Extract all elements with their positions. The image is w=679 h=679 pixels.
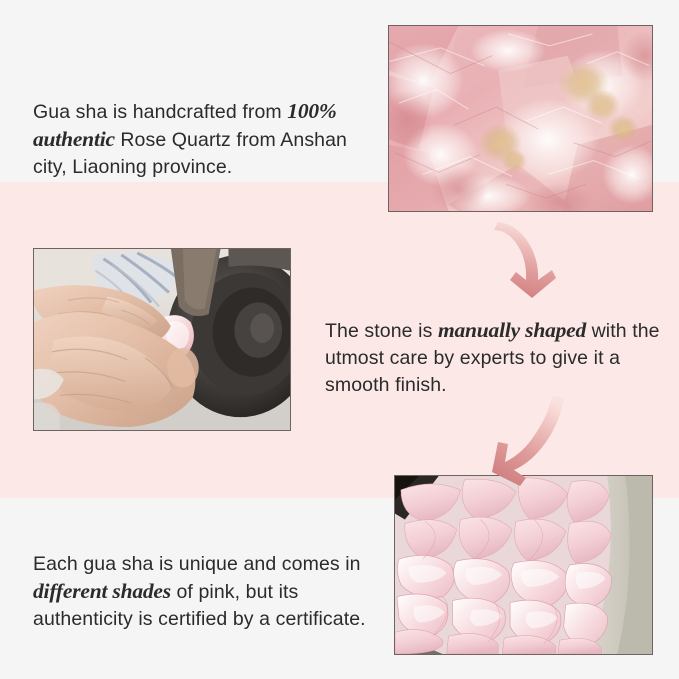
caption-step-1: Gua sha is handcrafted from 100% authent… xyxy=(33,98,383,181)
photo-stone-shaping-process xyxy=(33,248,291,431)
photo-finished-gua-sha-pile xyxy=(394,475,653,655)
caption-text-before: The stone is xyxy=(325,320,438,342)
arrow-glyph xyxy=(472,218,576,310)
caption-text-before: Each gua sha is unique and comes in xyxy=(33,553,361,575)
hands-grinding-wheel-illustration xyxy=(34,249,290,430)
photo-rose-quartz-texture xyxy=(388,25,653,212)
gua-sha-infographic: Gua sha is handcrafted from 100% authent… xyxy=(0,0,679,679)
rose-quartz-illustration xyxy=(389,26,652,211)
caption-step-3: Each gua sha is unique and comes in diff… xyxy=(33,551,388,633)
caption-text-before: Gua sha is handcrafted from xyxy=(33,101,287,123)
curved-down-arrow-2 xyxy=(478,396,582,488)
caption-emphasis: manually shaped xyxy=(438,318,586,342)
gua-sha-pile-illustration xyxy=(395,476,652,654)
caption-emphasis: different shades xyxy=(33,579,171,603)
caption-step-2: The stone is manually shaped with the ut… xyxy=(325,317,665,399)
arrow-glyph xyxy=(478,396,582,488)
curved-down-arrow-1 xyxy=(472,218,576,310)
